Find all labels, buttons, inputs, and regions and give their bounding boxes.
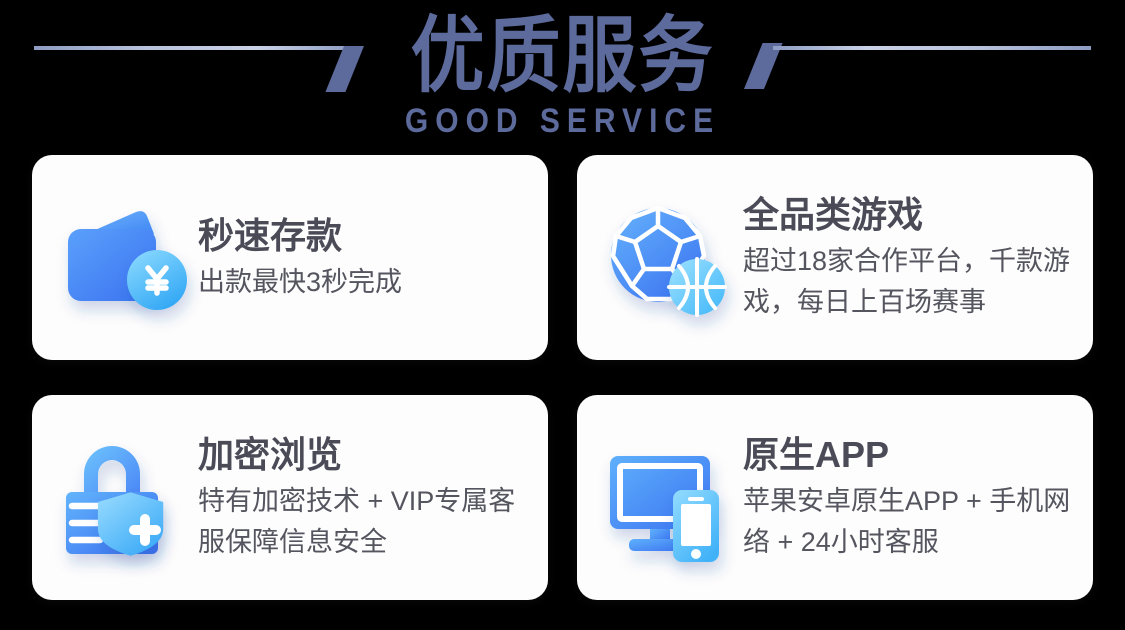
lock-shield-icon [56,434,184,562]
feature-card-native-app[interactable]: 原生APP 苹果安卓原生APP + 手机网络 + 24小时客服 [577,395,1093,600]
feature-card-title: 原生APP [743,433,1087,477]
feature-card-desc: 出款最快3秒完成 [198,262,542,302]
wallet-yen-icon [56,194,184,322]
soccer-basketball-icon [601,194,729,322]
feature-card-text: 原生APP 苹果安卓原生APP + 手机网络 + 24小时客服 [743,433,1087,563]
feature-card-title: 秒速存款 [198,214,542,258]
page-header: 优质服务 GOOD SERVICE [0,0,1125,142]
feature-card-title: 加密浏览 [198,433,542,477]
feature-card-text: 全品类游戏 超过18家合作平台，千款游戏，每日上百场赛事 [743,193,1087,323]
page-subtitle: GOOD SERVICE [0,102,1125,141]
page-title: 优质服务 [0,8,1125,104]
monitor-phone-icon [601,434,729,562]
feature-card-desc: 超过18家合作平台，千款游戏，每日上百场赛事 [743,241,1087,323]
feature-card-desc: 苹果安卓原生APP + 手机网络 + 24小时客服 [743,481,1087,563]
feature-card-text: 加密浏览 特有加密技术 + VIP专属客服保障信息安全 [198,433,542,563]
feature-card-deposit[interactable]: 秒速存款 出款最快3秒完成 [32,155,548,360]
feature-card-title: 全品类游戏 [743,193,1087,237]
feature-card-desc: 特有加密技术 + VIP专属客服保障信息安全 [198,481,542,563]
feature-card-grid: 秒速存款 出款最快3秒完成 [32,155,1093,600]
feature-card-encryption[interactable]: 加密浏览 特有加密技术 + VIP专属客服保障信息安全 [32,395,548,600]
feature-card-games[interactable]: 全品类游戏 超过18家合作平台，千款游戏，每日上百场赛事 [577,155,1093,360]
feature-card-text: 秒速存款 出款最快3秒完成 [198,214,542,302]
